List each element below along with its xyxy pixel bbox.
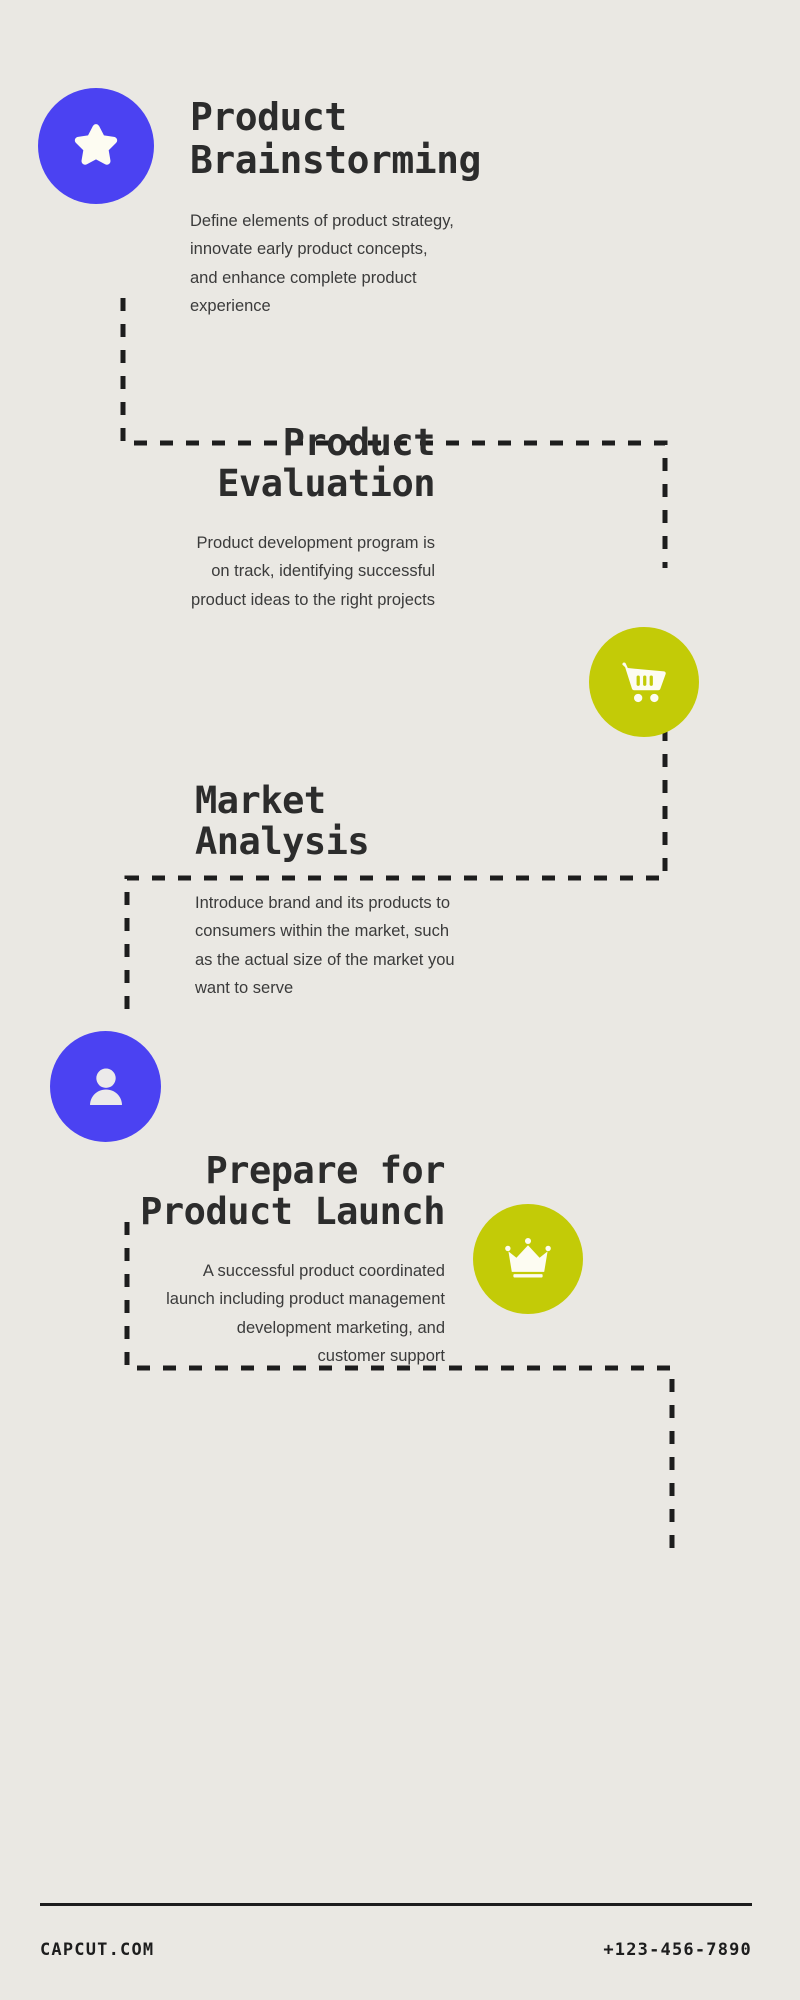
- shopping-cart-icon: [617, 655, 671, 709]
- step-title: Product Brainstorming: [190, 96, 550, 181]
- step-product-evaluation: Product Evaluation Product development p…: [130, 422, 435, 614]
- step-body: Introduce brand and its products to cons…: [195, 889, 520, 1003]
- step-market-analysis: Market Analysis Introduce brand and its …: [195, 780, 520, 1002]
- step-icon-badge-2: [589, 627, 699, 737]
- footer-phone[interactable]: +123-456-7890: [603, 1940, 752, 1960]
- step-title: Product Evaluation: [130, 422, 435, 505]
- footer: CAPCUT.COM +123-456-7890: [40, 1940, 752, 1960]
- step-prepare-for-product-launch: Prepare for Product Launch A successful …: [100, 1150, 445, 1370]
- step-body: Product development program is on track,…: [130, 529, 435, 614]
- step-title: Prepare for Product Launch: [100, 1150, 445, 1233]
- star-icon: [68, 118, 124, 174]
- step-product-brainstorming: Product Brainstorming Define elements of…: [190, 96, 550, 321]
- footer-website[interactable]: CAPCUT.COM: [40, 1940, 154, 1960]
- step-body: Define elements of product strategy, inn…: [190, 207, 550, 321]
- footer-divider: [40, 1903, 752, 1906]
- infographic-canvas: Product Brainstorming Define elements of…: [0, 0, 800, 2000]
- step-icon-badge-4: [473, 1204, 583, 1314]
- crown-icon: [501, 1232, 555, 1286]
- step-icon-badge-1: [38, 88, 154, 204]
- step-title: Market Analysis: [195, 780, 520, 863]
- person-icon: [79, 1060, 133, 1114]
- step-body: A successful product coordinated launch …: [100, 1257, 445, 1371]
- step-icon-badge-3: [50, 1031, 161, 1142]
